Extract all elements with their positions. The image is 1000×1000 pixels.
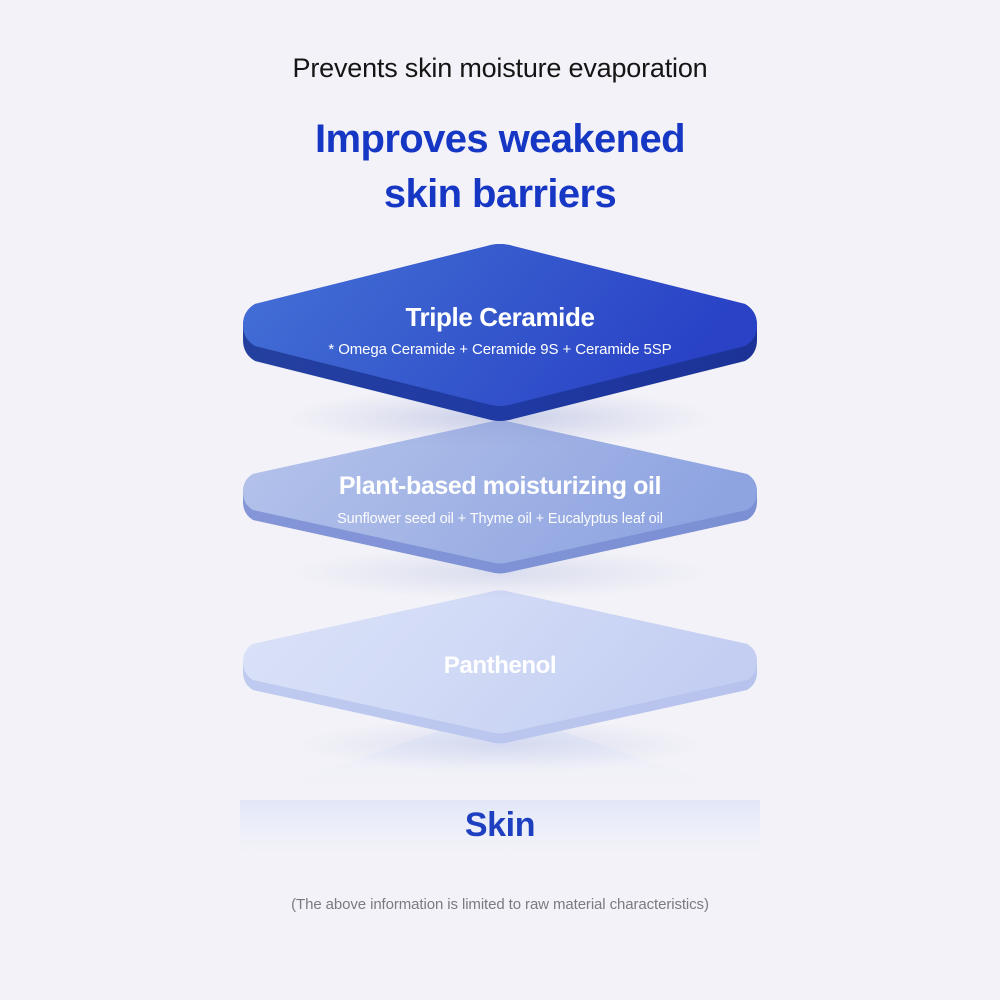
diagram-layer-ceramide <box>243 244 757 448</box>
footnote-text: (The above information is limited to raw… <box>0 896 1000 913</box>
diagram-layer-panthenol <box>243 591 757 772</box>
layer-stack-diagram <box>0 0 1000 1000</box>
infographic-canvas: Prevents skin moisture evaporation Impro… <box>0 0 1000 1000</box>
layer-label-skin: Skin <box>0 806 1000 845</box>
